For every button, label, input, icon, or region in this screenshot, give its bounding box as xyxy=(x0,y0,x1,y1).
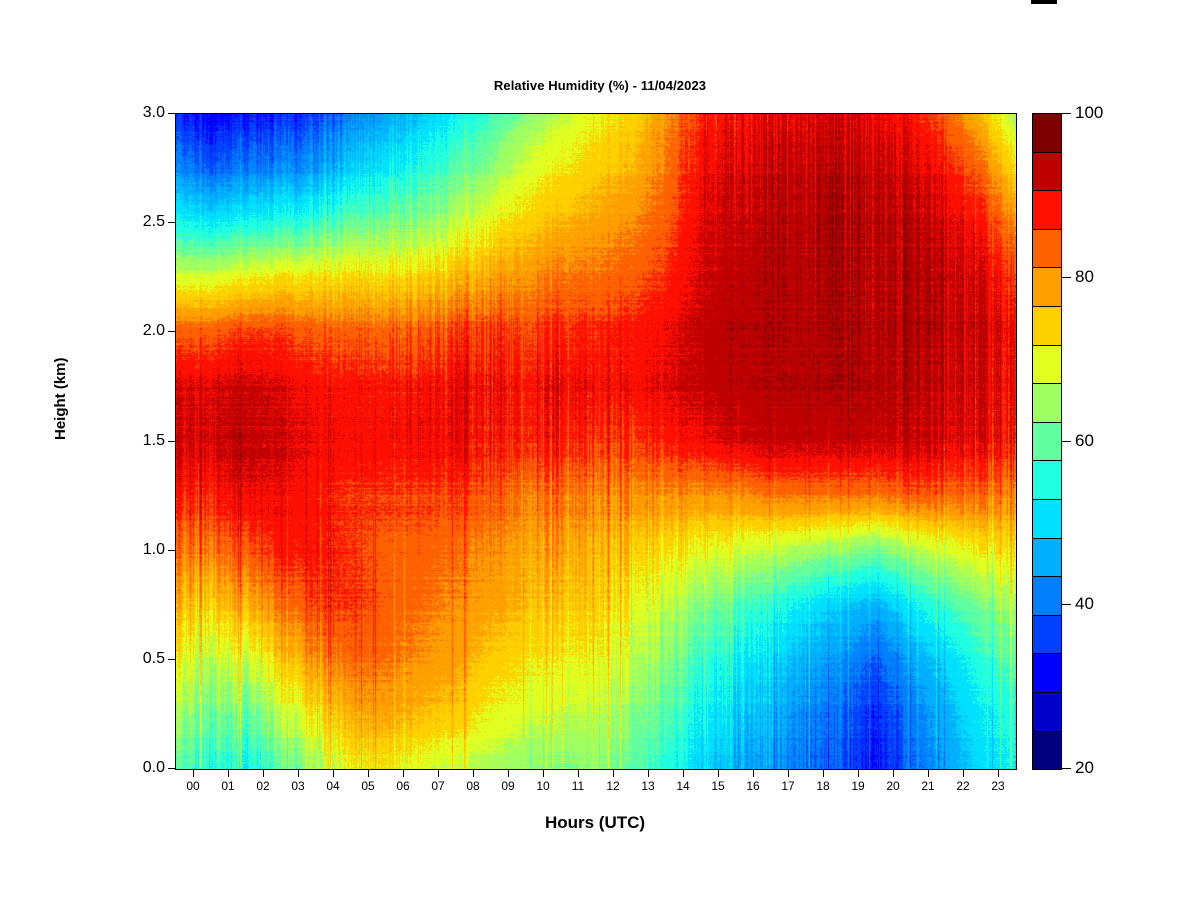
x-tick-label: 05 xyxy=(348,779,388,793)
x-tick-label: 11 xyxy=(558,779,598,793)
x-tick-label: 06 xyxy=(383,779,423,793)
x-tick-mark xyxy=(578,769,579,777)
colorbar-band xyxy=(1033,577,1061,616)
x-tick-mark xyxy=(648,769,649,777)
heatmap-plot-area xyxy=(175,113,1017,770)
colorbar-tick-mark xyxy=(1062,277,1071,278)
x-axis-title: Hours (UTC) xyxy=(175,813,1015,833)
colorbar-band xyxy=(1033,423,1061,462)
colorbar-tick-mark xyxy=(1062,768,1071,769)
x-tick-label: 01 xyxy=(208,779,248,793)
x-tick-mark xyxy=(963,769,964,777)
y-tick-label: 1.0 xyxy=(105,542,165,558)
x-tick-label: 14 xyxy=(663,779,703,793)
colorbar-band xyxy=(1033,307,1061,346)
colorbar-band xyxy=(1033,191,1061,230)
x-tick-mark xyxy=(403,769,404,777)
colorbar-tick-label: 100 xyxy=(1075,104,1103,121)
colorbar-tick-label: 20 xyxy=(1075,759,1094,776)
colorbar-tick-mark xyxy=(1062,113,1071,114)
x-tick-mark xyxy=(228,769,229,777)
x-tick-label: 17 xyxy=(768,779,808,793)
colorbar-tick-mark xyxy=(1062,441,1071,442)
colorbar-band xyxy=(1033,500,1061,539)
x-tick-mark xyxy=(263,769,264,777)
y-tick-label: 0.0 xyxy=(105,760,165,776)
colorbar-band xyxy=(1033,616,1061,655)
x-tick-mark xyxy=(753,769,754,777)
colorbar-band xyxy=(1033,539,1061,578)
x-tick-label: 02 xyxy=(243,779,283,793)
x-tick-label: 22 xyxy=(943,779,983,793)
y-tick-label: 2.5 xyxy=(105,214,165,230)
colorbar-band xyxy=(1033,230,1061,269)
figure-canvas: Relative Humidity (%) - 11/04/2023 0.00.… xyxy=(0,0,1200,900)
x-tick-mark xyxy=(543,769,544,777)
colorbar-band xyxy=(1033,153,1061,192)
x-tick-mark xyxy=(613,769,614,777)
y-tick-mark xyxy=(168,331,176,332)
x-tick-mark xyxy=(683,769,684,777)
x-tick-label: 00 xyxy=(173,779,213,793)
y-tick-label: 2.0 xyxy=(105,323,165,339)
colorbar-band xyxy=(1033,654,1061,693)
colorbar-band xyxy=(1033,732,1061,770)
y-tick-mark xyxy=(168,441,176,442)
x-tick-label: 13 xyxy=(628,779,668,793)
y-tick-label: 3.0 xyxy=(105,105,165,121)
x-tick-label: 10 xyxy=(523,779,563,793)
x-tick-mark xyxy=(893,769,894,777)
x-tick-label: 09 xyxy=(488,779,528,793)
colorbar-band xyxy=(1033,114,1061,153)
x-tick-label: 12 xyxy=(593,779,633,793)
colorbar-band xyxy=(1033,693,1061,732)
x-tick-label: 16 xyxy=(733,779,773,793)
colorbar xyxy=(1032,113,1062,770)
x-tick-label: 18 xyxy=(803,779,843,793)
colorbar-band xyxy=(1033,268,1061,307)
x-tick-label: 21 xyxy=(908,779,948,793)
page-title: Relative Humidity (%) - 11/04/2023 xyxy=(0,78,1200,93)
x-tick-label: 15 xyxy=(698,779,738,793)
x-tick-label: 07 xyxy=(418,779,458,793)
x-tick-mark xyxy=(438,769,439,777)
y-tick-mark xyxy=(168,222,176,223)
colorbar-band xyxy=(1033,461,1061,500)
relative-humidity-heatmap xyxy=(176,114,1016,769)
y-tick-mark xyxy=(168,550,176,551)
x-tick-mark xyxy=(508,769,509,777)
y-axis-title: Height (km) xyxy=(52,240,69,440)
y-tick-label: 0.5 xyxy=(105,651,165,667)
colorbar-tick-label: 60 xyxy=(1075,432,1094,449)
x-tick-mark xyxy=(928,769,929,777)
x-tick-mark xyxy=(823,769,824,777)
x-tick-label: 23 xyxy=(978,779,1018,793)
y-tick-label: 1.5 xyxy=(105,433,165,449)
x-tick-label: 20 xyxy=(873,779,913,793)
colorbar-band xyxy=(1033,384,1061,423)
x-tick-mark xyxy=(193,769,194,777)
x-tick-mark xyxy=(858,769,859,777)
x-tick-label: 08 xyxy=(453,779,493,793)
x-tick-mark xyxy=(473,769,474,777)
colorbar-tick-label: 40 xyxy=(1075,595,1094,612)
y-tick-mark xyxy=(168,113,176,114)
x-tick-label: 19 xyxy=(838,779,878,793)
x-tick-label: 04 xyxy=(313,779,353,793)
x-tick-mark xyxy=(298,769,299,777)
y-tick-mark xyxy=(168,768,176,769)
x-tick-mark xyxy=(998,769,999,777)
x-tick-mark xyxy=(333,769,334,777)
colorbar-tick-mark xyxy=(1062,604,1071,605)
x-tick-mark xyxy=(718,769,719,777)
y-tick-mark xyxy=(168,659,176,660)
x-tick-mark xyxy=(368,769,369,777)
top-edge-artifact xyxy=(1031,0,1057,4)
colorbar-band xyxy=(1033,346,1061,385)
x-tick-label: 03 xyxy=(278,779,318,793)
x-tick-mark xyxy=(788,769,789,777)
colorbar-tick-label: 80 xyxy=(1075,268,1094,285)
